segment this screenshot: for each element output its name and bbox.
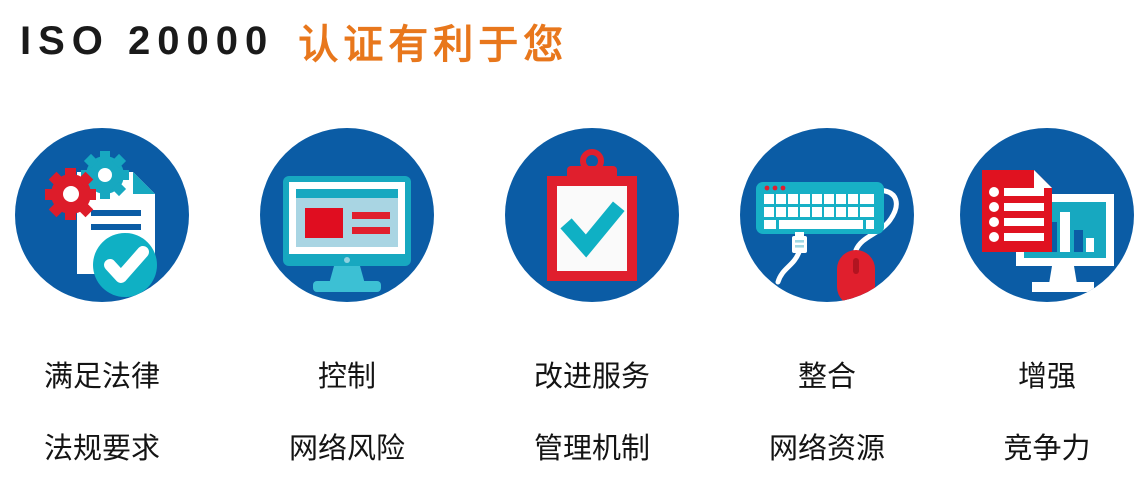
benefit-item-integrate-network-resources: 整合 网络资源: [717, 128, 937, 504]
benefits-row: 满足法律 法规要求: [0, 128, 1146, 468]
benefit-item-improve-service-management: 改进服务 管理机制: [482, 128, 702, 504]
benefit-caption-1: 满足法律 法规要求: [0, 324, 212, 504]
caption-line-1: 控制: [237, 360, 457, 396]
icon-circle-1: [15, 128, 189, 302]
benefit-item-control-network-risk: 控制 网络风险: [237, 128, 457, 504]
caption-line-1: 整合: [717, 360, 937, 396]
clipboard-check-icon: [505, 128, 679, 302]
icon-circle-5: [960, 128, 1134, 302]
caption-line-2: 法规要求: [0, 432, 212, 468]
caption-line-1: 增强: [937, 360, 1146, 396]
report-chart-monitor-icon: [960, 128, 1134, 302]
icon-circle-4: [740, 128, 914, 302]
monitor-webpage-icon: [260, 128, 434, 302]
caption-line-1: 满足法律: [0, 360, 212, 396]
caption-line-2: 网络资源: [717, 432, 937, 468]
benefit-item-enhance-competitiveness: 增强 竞争力: [937, 128, 1146, 504]
icon-circle-3: [505, 128, 679, 302]
page-title: ISO 20000 认证有利于您: [20, 8, 568, 74]
document-gears-check-icon: [15, 128, 189, 302]
caption-line-2: 网络风险: [237, 432, 457, 468]
caption-line-2: 管理机制: [482, 432, 702, 468]
icon-circle-2: [260, 128, 434, 302]
benefit-caption-4: 整合 网络资源: [717, 324, 937, 504]
iso-20000-benefits-infographic: ISO 20000 认证有利于您: [0, 0, 1146, 467]
benefit-caption-2: 控制 网络风险: [237, 324, 457, 504]
benefit-item-legal-compliance: 满足法律 法规要求: [0, 128, 212, 504]
benefit-caption-5: 增强 竞争力: [937, 324, 1146, 504]
caption-line-2: 竞争力: [937, 432, 1146, 468]
title-tagline: 认证有利于您: [298, 12, 568, 70]
caption-line-1: 改进服务: [482, 360, 702, 396]
benefit-caption-3: 改进服务 管理机制: [482, 324, 702, 504]
title-standard-name: ISO 20000: [20, 19, 274, 64]
keyboard-mouse-icon: [740, 128, 914, 302]
